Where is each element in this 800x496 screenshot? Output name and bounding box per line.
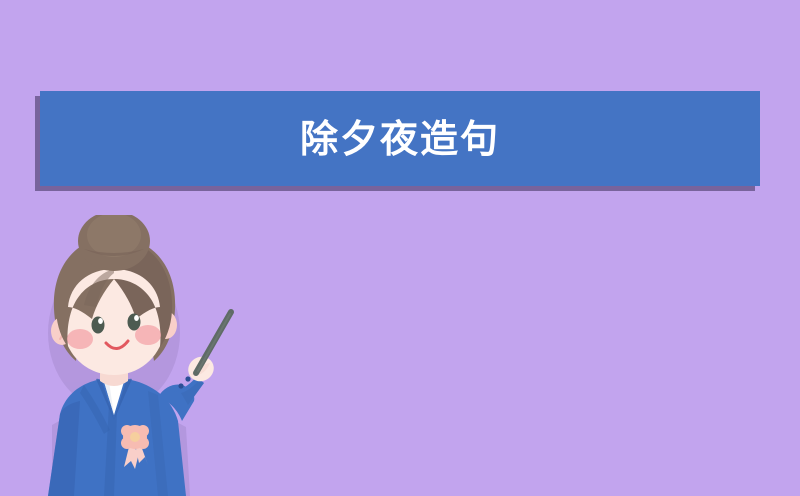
right-eye: [128, 314, 141, 331]
left-eye: [92, 317, 105, 334]
page-title: 除夕夜造句: [300, 120, 500, 158]
title-banner: 除夕夜造句: [40, 91, 760, 186]
pointer-stick: [196, 312, 231, 373]
page-root: 除夕夜造句: [0, 0, 800, 496]
teacher-illustration: [18, 215, 248, 496]
left-blush: [67, 329, 93, 349]
right-blush: [135, 325, 161, 345]
